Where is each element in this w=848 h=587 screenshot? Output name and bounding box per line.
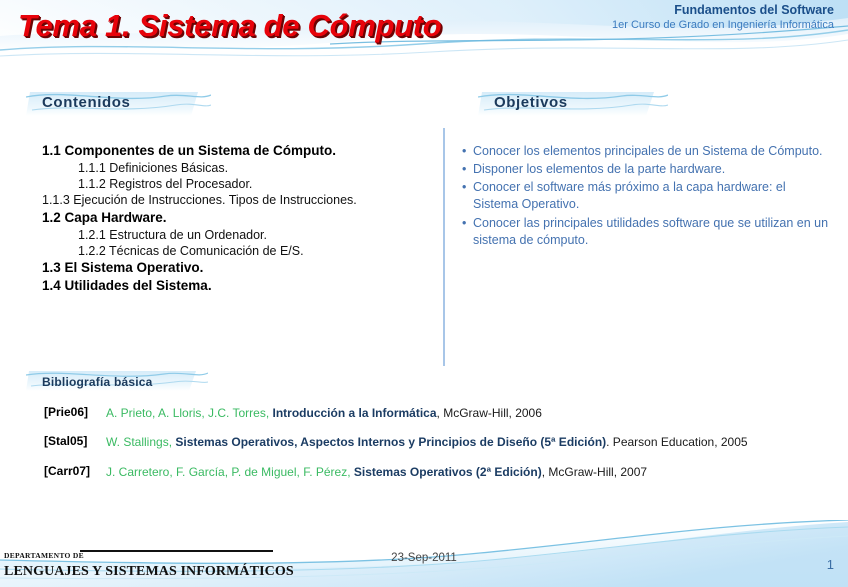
bibliography-title: Sistemas Operativos, Aspectos Internos y… [175,435,606,449]
bibliography-publisher: , McGraw-Hill, 2007 [542,465,647,479]
section-banner-objetivos-label: Objetivos [478,88,668,111]
bullet-icon: • [462,179,466,196]
bibliography-publisher: . Pearson Education, 2005 [606,435,747,449]
section-banner-bibliografia-label: Bibliografía básica [26,368,208,389]
contents-item: 1.4 Utilidades del Sistema. [42,277,432,295]
course-subtitle: 1er Curso de Grado en Ingeniería Informá… [612,19,834,32]
contents-item: 1.2.2 Técnicas de Comunicación de E/S. [42,243,432,259]
objective-item-label: Conocer las principales utilidades softw… [473,216,828,247]
column-divider [443,128,445,366]
bibliography-authors: A. Prieto, A. Lloris, J.C. Torres, [106,406,273,420]
page-number: 1 [827,557,834,572]
bullet-icon: • [462,143,466,160]
department-line2: LENGUAJES Y SISTEMAS INFORMÁTICOS [4,564,294,580]
bibliography-reference: J. Carretero, F. García, P. de Miguel, F… [106,464,834,481]
objective-item: • Conocer los elementos principales de u… [462,143,834,160]
bibliography-entry: [Carr07] J. Carretero, F. García, P. de … [44,464,834,481]
bibliography-key: [Carr07] [44,464,106,478]
bibliography-authors: J. Carretero, F. García, P. de Miguel, F… [106,465,354,479]
contents-list: 1.1 Componentes de un Sistema de Cómputo… [42,142,432,295]
contents-item: 1.2.1 Estructura de un Ordenador. [42,227,432,243]
contents-item: 1.1.3 Ejecución de Instrucciones. Tipos … [42,192,432,208]
contents-item: 1.1 Componentes de un Sistema de Cómputo… [42,142,432,160]
bullet-icon: • [462,161,466,178]
bibliography-reference: A. Prieto, A. Lloris, J.C. Torres, Intro… [106,405,834,422]
slide-canvas: Tema 1. Sistema de Cómputo Fundamentos d… [0,0,848,587]
bibliography-title: Sistemas Operativos (2ª Edición) [354,465,542,479]
bibliography-reference: W. Stallings, Sistemas Operativos, Aspec… [106,434,834,451]
objective-item: • Conocer el software más próximo a la c… [462,179,834,213]
bibliography-title: Introducción a la Informática [273,406,437,420]
section-banner-bibliografia: Bibliografía básica [26,368,208,394]
objective-item-label: Conocer los elementos principales de un … [473,144,823,158]
contents-item: 1.1.1 Definiciones Básicas. [42,160,432,176]
bibliography-publisher: , McGraw-Hill, 2006 [437,406,542,420]
bibliography-key: [Prie06] [44,405,106,419]
bibliography-entry: [Prie06] A. Prieto, A. Lloris, J.C. Torr… [44,405,834,422]
contents-item: 1.2 Capa Hardware. [42,209,432,227]
objective-item: • Disponer los elementos de la parte har… [462,161,834,178]
course-header: Fundamentos del Software 1er Curso de Gr… [612,3,834,32]
contents-item: 1.1.2 Registros del Procesador. [42,176,432,192]
objective-item-label: Disponer los elementos de la parte hardw… [473,162,725,176]
section-banner-contenidos: Contenidos [26,88,211,120]
bibliography-key: [Stal05] [44,434,106,448]
bibliography-authors: W. Stallings, [106,435,175,449]
section-banner-objetivos: Objetivos [478,88,668,120]
objectives-list: • Conocer los elementos principales de u… [462,143,834,250]
bullet-icon: • [462,215,466,232]
course-title: Fundamentos del Software [612,3,834,18]
footer-date: 23-Sep-2011 [0,552,848,564]
bibliography-list: [Prie06] A. Prieto, A. Lloris, J.C. Torr… [44,405,834,493]
objective-item: • Conocer las principales utilidades sof… [462,215,834,249]
objective-item-label: Conocer el software más próximo a la cap… [473,180,786,211]
contents-item: 1.3 El Sistema Operativo. [42,259,432,277]
bibliography-entry: [Stal05] W. Stallings, Sistemas Operativ… [44,434,834,451]
page-title: Tema 1. Sistema de Cómputo [18,8,441,44]
section-banner-contenidos-label: Contenidos [26,88,211,111]
